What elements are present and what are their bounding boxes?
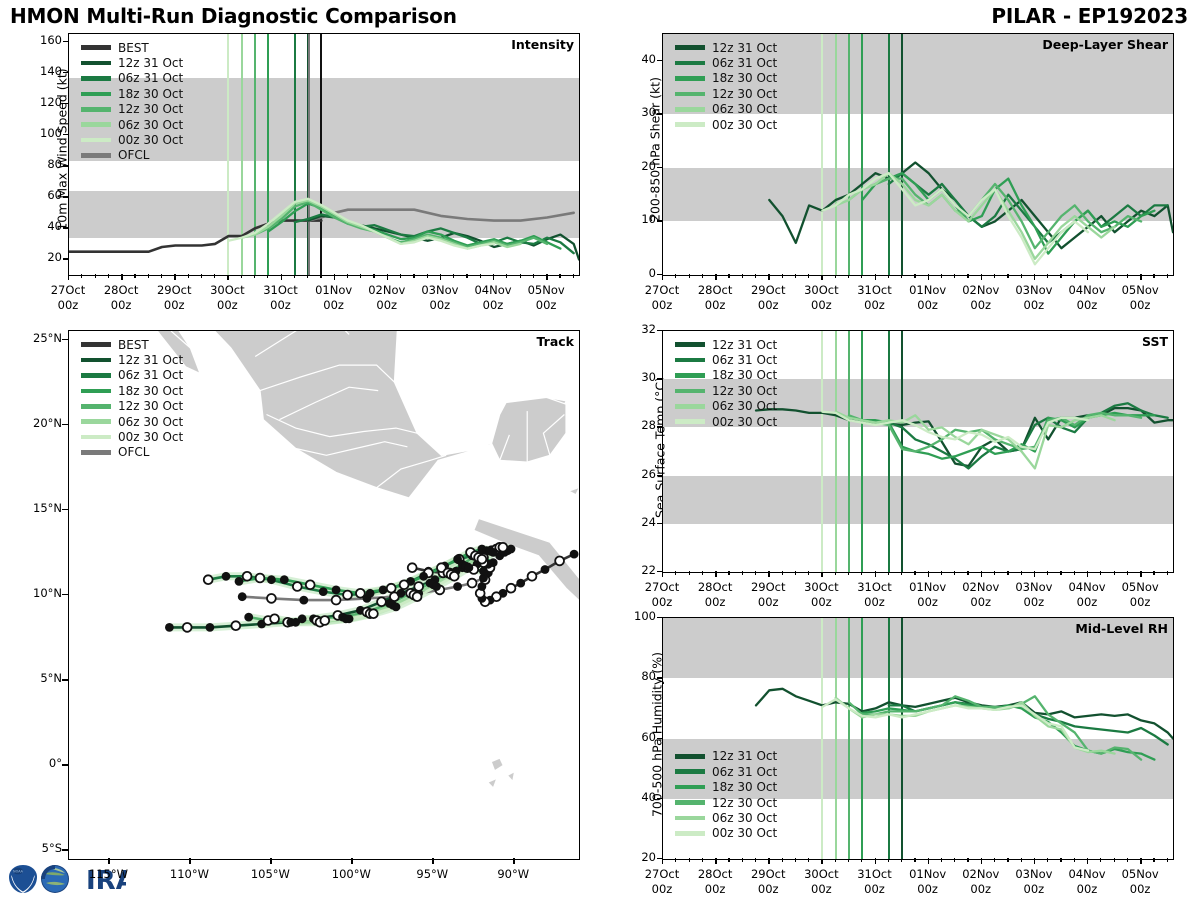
y-axis-tick bbox=[63, 103, 68, 104]
x-axis-tick-label-hour: 00z bbox=[304, 298, 364, 312]
track-marker-filled bbox=[379, 586, 388, 595]
x-axis-tick-label-day: 31Oct bbox=[845, 867, 905, 881]
panel-track: Track BEST12z 31 Oct06z 31 Oct18z 30 Oct… bbox=[68, 330, 580, 860]
x-axis-tick-label: 100°W bbox=[319, 867, 383, 881]
x-axis-tick-label-day: 28Oct bbox=[685, 580, 745, 594]
legend-label: 06z 31 Oct bbox=[712, 765, 777, 779]
panel-rh: Mid-Level RH 12z 31 Oct06z 31 Oct18z 30 … bbox=[662, 617, 1174, 860]
track-marker-filled bbox=[479, 567, 488, 576]
legend-label: 12z 30 Oct bbox=[118, 102, 183, 116]
legend-swatch-06z-31-oct bbox=[675, 769, 705, 774]
legend-label: 00z 30 Oct bbox=[712, 826, 777, 840]
x-axis-tick-label-hour: 00z bbox=[410, 298, 470, 312]
legend-item[interactable]: 00z 30 Oct bbox=[675, 414, 777, 429]
legend-label: 12z 30 Oct bbox=[118, 399, 183, 413]
track-marker-filled bbox=[235, 577, 244, 586]
y-axis-tick bbox=[63, 165, 68, 166]
legend-swatch-06z-31-oct bbox=[675, 358, 705, 363]
legend-swatch-12z-31-oct bbox=[81, 358, 111, 363]
y-axis-tick-label: 100 bbox=[618, 609, 656, 623]
track-marker-open bbox=[507, 584, 516, 593]
legend-swatch-06z-31-oct bbox=[81, 76, 111, 81]
legend-item[interactable]: 12z 30 Oct bbox=[675, 86, 777, 101]
legend-item[interactable]: 06z 31 Oct bbox=[81, 368, 183, 383]
x-axis-tick-label-day: 05Nov bbox=[516, 283, 576, 297]
x-axis-tick-label-day: 01Nov bbox=[898, 580, 958, 594]
x-axis-tick bbox=[108, 858, 109, 864]
x-axis-tick-label-day: 04Nov bbox=[463, 283, 523, 297]
y-axis-tick bbox=[657, 60, 662, 61]
legend-label: 06z 30 Oct bbox=[118, 415, 183, 429]
panel-label-shear: Deep-Layer Shear bbox=[1042, 37, 1168, 52]
landmass bbox=[488, 779, 496, 788]
x-axis-tick bbox=[270, 858, 271, 864]
track-marker-filled bbox=[541, 565, 550, 574]
y-axis-tick bbox=[657, 475, 662, 476]
legend-swatch-12z-30-oct bbox=[675, 92, 705, 97]
legend-label: 06z 30 Oct bbox=[118, 118, 183, 132]
x-axis-tick-label-day: 29Oct bbox=[144, 283, 204, 297]
legend-item[interactable]: 06z 30 Oct bbox=[675, 399, 777, 414]
x-axis-tick-label-day: 04Nov bbox=[1057, 580, 1117, 594]
y-axis-tick bbox=[62, 594, 68, 595]
legend-swatch-ofcl bbox=[81, 450, 111, 455]
track-marker-open bbox=[356, 589, 365, 598]
series-line bbox=[242, 200, 521, 248]
y-axis-tick-label: 25°N bbox=[16, 331, 62, 345]
x-axis-tick-label-day: 29Oct bbox=[738, 580, 798, 594]
y-axis-tick-label: 0 bbox=[618, 266, 656, 280]
y-axis-tick-label: 40 bbox=[618, 790, 656, 804]
x-axis-tick-label-hour: 00z bbox=[632, 298, 692, 312]
x-axis-tick-label-hour: 00z bbox=[845, 882, 905, 896]
panel-label-sst: SST bbox=[1142, 334, 1168, 349]
x-axis-tick-label-hour: 00z bbox=[738, 882, 798, 896]
track-marker-open bbox=[270, 614, 279, 623]
y-axis-tick bbox=[657, 167, 662, 168]
legend-swatch-12z-30-oct bbox=[81, 107, 111, 112]
x-axis-tick-label-hour: 00z bbox=[1004, 595, 1064, 609]
legend-item[interactable]: 18z 30 Oct bbox=[81, 86, 183, 101]
x-axis-tick-label-day: 30Oct bbox=[197, 283, 257, 297]
track-marker-filled bbox=[465, 563, 474, 572]
track-marker-filled bbox=[419, 572, 428, 581]
legend-item[interactable]: 06z 31 Oct bbox=[675, 352, 777, 367]
track-marker-filled bbox=[366, 589, 375, 598]
x-axis-tick-label-day: 29Oct bbox=[738, 867, 798, 881]
series-line bbox=[69, 221, 321, 252]
legend-item[interactable]: 12z 31 Oct bbox=[675, 749, 777, 764]
x-axis-tick-label-hour: 00z bbox=[738, 595, 798, 609]
y-axis-tick bbox=[62, 339, 68, 340]
x-axis-tick-label-day: 02Nov bbox=[951, 580, 1011, 594]
track-marker-open bbox=[231, 621, 240, 630]
legend-item[interactable]: 12z 31 Oct bbox=[675, 337, 777, 352]
legend-label: 06z 30 Oct bbox=[712, 102, 777, 116]
track-marker-filled bbox=[299, 596, 308, 605]
legend-item[interactable]: 12z 30 Oct bbox=[81, 102, 183, 117]
x-axis-tick-label-hour: 00z bbox=[898, 882, 958, 896]
y-axis-tick-label: 15°N bbox=[16, 501, 62, 515]
legend-item[interactable]: 06z 30 Oct bbox=[675, 102, 777, 117]
track-marker-filled bbox=[206, 623, 215, 632]
y-axis-tick bbox=[657, 220, 662, 221]
legend-swatch-18z-30-oct bbox=[81, 92, 111, 97]
legend-swatch-best bbox=[81, 45, 111, 50]
legend-item[interactable]: 06z 31 Oct bbox=[81, 71, 183, 86]
x-axis-tick-label: 105°W bbox=[238, 867, 302, 881]
y-axis-tick bbox=[657, 113, 662, 114]
y-axis-tick-label: 10°N bbox=[16, 586, 62, 600]
political-border bbox=[438, 460, 493, 470]
x-axis-tick-label-hour: 00z bbox=[357, 298, 417, 312]
x-axis-tick-label-day: 01Nov bbox=[898, 867, 958, 881]
x-axis-tick-label-day: 28Oct bbox=[91, 283, 151, 297]
y-axis-tick-label: 22 bbox=[618, 563, 656, 577]
x-axis-tick-label-hour: 00z bbox=[1110, 595, 1170, 609]
y-axis-tick bbox=[657, 798, 662, 799]
x-axis-tick-label-hour: 00z bbox=[463, 298, 523, 312]
legend-label: 12z 31 Oct bbox=[118, 56, 183, 70]
y-axis-tick bbox=[62, 509, 68, 510]
legend-item[interactable]: 00z 30 Oct bbox=[81, 132, 183, 147]
legend-label: 06z 31 Oct bbox=[118, 71, 183, 85]
legend-swatch-best bbox=[81, 342, 111, 347]
legend-item[interactable]: 12z 30 Oct bbox=[675, 795, 777, 810]
track-marker-open bbox=[414, 582, 423, 591]
legend-item[interactable]: 06z 30 Oct bbox=[81, 117, 183, 132]
x-axis-tick-label-day: 27Oct bbox=[632, 867, 692, 881]
track-marker-filled bbox=[222, 572, 231, 581]
legend-label: BEST bbox=[118, 41, 149, 55]
x-axis-tick-label-hour: 00z bbox=[1110, 882, 1170, 896]
legend-item[interactable]: 18z 30 Oct bbox=[675, 71, 777, 86]
x-axis-tick-label-day: 27Oct bbox=[38, 283, 98, 297]
track-marker-filled bbox=[489, 548, 498, 557]
legend-swatch-06z-30-oct bbox=[675, 404, 705, 409]
legend-swatch-18z-30-oct bbox=[675, 785, 705, 790]
y-axis-tick-label: 5°S bbox=[16, 841, 62, 855]
track-marker-filled bbox=[570, 550, 579, 559]
x-axis-tick-label-hour: 00z bbox=[898, 298, 958, 312]
legend-swatch-18z-30-oct bbox=[675, 373, 705, 378]
x-axis-tick-label-hour: 00z bbox=[845, 298, 905, 312]
legend-label: 18z 30 Oct bbox=[712, 368, 777, 382]
legend-swatch-06z-30-oct bbox=[675, 107, 705, 112]
x-axis-tick-label-day: 03Nov bbox=[410, 283, 470, 297]
legend-swatch-12z-30-oct bbox=[675, 800, 705, 805]
track-marker-filled bbox=[489, 558, 498, 567]
track-marker-filled bbox=[392, 603, 401, 612]
legend-item[interactable]: 18z 30 Oct bbox=[675, 779, 777, 794]
y-axis-tick-label: 80 bbox=[24, 157, 62, 171]
legend-label: 12z 30 Oct bbox=[712, 384, 777, 398]
y-axis-tick-label: 40 bbox=[24, 219, 62, 233]
legend-label: 12z 31 Oct bbox=[118, 353, 183, 367]
legend-item[interactable]: 00z 30 Oct bbox=[675, 826, 777, 841]
legend-label: BEST bbox=[118, 338, 149, 352]
y-axis-tick-label: 32 bbox=[618, 322, 656, 336]
series-line bbox=[836, 173, 1115, 259]
x-axis-tick-label-day: 02Nov bbox=[951, 867, 1011, 881]
track-marker-open bbox=[369, 609, 378, 618]
track-marker-open bbox=[450, 572, 459, 581]
legend-item[interactable]: 06z 31 Oct bbox=[675, 764, 777, 779]
y-axis-tick-label: 160 bbox=[24, 33, 62, 47]
x-axis-tick bbox=[432, 858, 433, 864]
legend-item[interactable]: 12z 31 Oct bbox=[81, 55, 183, 70]
series-line bbox=[308, 210, 574, 221]
noaa-logo: NOAA bbox=[6, 862, 40, 896]
x-axis-tick-label-day: 05Nov bbox=[1110, 580, 1170, 594]
track-marker-open bbox=[528, 572, 537, 581]
x-axis-tick-label: 95°W bbox=[400, 867, 464, 881]
x-axis-tick-label-day: 04Nov bbox=[1057, 867, 1117, 881]
legend-label: 00z 30 Oct bbox=[712, 415, 777, 429]
y-axis-tick bbox=[63, 134, 68, 135]
legend-item[interactable]: 12z 30 Oct bbox=[675, 383, 777, 398]
x-axis-tick-label-hour: 00z bbox=[197, 298, 257, 312]
track-marker-open bbox=[332, 596, 341, 605]
legend-item[interactable]: 06z 30 Oct bbox=[675, 810, 777, 825]
track-marker-filled bbox=[267, 575, 276, 584]
x-axis-tick-label-day: 03Nov bbox=[1004, 283, 1064, 297]
y-axis-tick bbox=[63, 196, 68, 197]
track-marker-filled bbox=[397, 589, 406, 598]
legend-swatch-06z-31-oct bbox=[675, 61, 705, 66]
svg-text:NOAA: NOAA bbox=[13, 870, 24, 874]
x-axis-tick-label: 90°W bbox=[481, 867, 545, 881]
legend: 12z 31 Oct06z 31 Oct18z 30 Oct12z 30 Oct… bbox=[675, 749, 777, 841]
track-marker-open bbox=[413, 592, 422, 601]
legend-swatch-06z-30-oct bbox=[675, 816, 705, 821]
x-axis-tick-label-hour: 00z bbox=[1057, 595, 1117, 609]
legend-label: 18z 30 Oct bbox=[118, 87, 183, 101]
legend-item[interactable]: 06z 30 Oct bbox=[81, 414, 183, 429]
x-axis-tick-label: 110°W bbox=[157, 867, 221, 881]
track-marker-open bbox=[204, 575, 213, 584]
track-marker-filled bbox=[244, 613, 253, 622]
legend-item[interactable]: 18z 30 Oct bbox=[81, 383, 183, 398]
series-line bbox=[822, 173, 1088, 264]
x-axis-tick-label-day: 27Oct bbox=[632, 283, 692, 297]
series-line bbox=[756, 408, 1173, 466]
legend-swatch-00z-30-oct bbox=[81, 138, 111, 143]
legend-swatch-18z-30-oct bbox=[81, 389, 111, 394]
track-marker-open bbox=[468, 579, 477, 588]
y-axis-tick-label: 100 bbox=[24, 126, 62, 140]
x-axis-tick-label-day: 28Oct bbox=[685, 867, 745, 881]
legend-item[interactable]: 12z 30 Oct bbox=[81, 399, 183, 414]
x-axis-tick-label-day: 01Nov bbox=[304, 283, 364, 297]
x-axis-tick-label-day: 30Oct bbox=[791, 867, 851, 881]
x-axis-tick-label-hour: 00z bbox=[685, 595, 745, 609]
legend-item[interactable]: 18z 30 Oct bbox=[675, 368, 777, 383]
legend-swatch-00z-30-oct bbox=[675, 831, 705, 836]
legend: 12z 31 Oct06z 31 Oct18z 30 Oct12z 30 Oct… bbox=[675, 337, 777, 429]
legend-label: 12z 31 Oct bbox=[712, 41, 777, 55]
track-marker-open bbox=[306, 580, 315, 589]
x-axis-tick-label-hour: 00z bbox=[951, 882, 1011, 896]
x-axis-tick-label-hour: 00z bbox=[1110, 298, 1170, 312]
y-axis-tick-label: 30 bbox=[618, 370, 656, 384]
x-axis-tick-label-hour: 00z bbox=[791, 882, 851, 896]
political-border bbox=[550, 525, 579, 542]
political-border bbox=[514, 518, 543, 530]
panel-label-intensity: Intensity bbox=[511, 37, 574, 52]
figure-root: HMON Multi-Run Diagnostic Comparison PIL… bbox=[0, 0, 1200, 900]
track-marker-open bbox=[320, 616, 329, 625]
x-axis-tick-label-hour: 00z bbox=[791, 298, 851, 312]
legend-swatch-06z-30-oct bbox=[81, 122, 111, 127]
x-axis-tick-label-hour: 00z bbox=[951, 595, 1011, 609]
legend-item[interactable]: 06z 31 Oct bbox=[675, 55, 777, 70]
x-axis-tick-label-hour: 00z bbox=[516, 298, 576, 312]
y-axis-tick bbox=[657, 738, 662, 739]
y-axis-tick-label: 80 bbox=[618, 669, 656, 683]
x-axis-tick-label-hour: 00z bbox=[845, 595, 905, 609]
x-axis-tick-label-hour: 00z bbox=[632, 882, 692, 896]
track-marker-open bbox=[256, 574, 265, 583]
panel-label-rh: Mid-Level RH bbox=[1075, 621, 1168, 636]
y-axis-tick-label: 24 bbox=[618, 515, 656, 529]
track-marker-open bbox=[499, 543, 508, 552]
x-axis-tick-label-day: 30Oct bbox=[791, 580, 851, 594]
legend-swatch-12z-31-oct bbox=[675, 342, 705, 347]
y-axis-tick bbox=[62, 849, 68, 850]
series-line bbox=[862, 173, 1154, 253]
x-axis-tick-label-day: 02Nov bbox=[357, 283, 417, 297]
x-axis-tick-label: 115°W bbox=[76, 867, 140, 881]
x-axis-tick-label-day: 27Oct bbox=[632, 580, 692, 594]
x-axis-tick-label-hour: 00z bbox=[738, 298, 798, 312]
legend-label: 06z 31 Oct bbox=[712, 353, 777, 367]
y-axis-tick-label: 0° bbox=[16, 756, 62, 770]
y-axis-tick bbox=[657, 523, 662, 524]
legend-label: 00z 30 Oct bbox=[712, 118, 777, 132]
x-axis-tick-label-hour: 00z bbox=[91, 298, 151, 312]
legend-label: 12z 30 Oct bbox=[712, 796, 777, 810]
track-marker-filled bbox=[298, 614, 307, 623]
x-axis-tick-label-hour: 00z bbox=[791, 595, 851, 609]
legend-label: 18z 30 Oct bbox=[118, 384, 183, 398]
x-axis-tick-label-day: 03Nov bbox=[1004, 867, 1064, 881]
legend-label: OFCL bbox=[118, 445, 149, 459]
legend-swatch-06z-31-oct bbox=[81, 373, 111, 378]
x-axis-tick bbox=[351, 858, 352, 864]
legend-item[interactable]: OFCL bbox=[81, 445, 183, 460]
legend-label: 06z 30 Oct bbox=[712, 399, 777, 413]
figure-title-left: HMON Multi-Run Diagnostic Comparison bbox=[10, 4, 457, 28]
panel-shear: Deep-Layer Shear 12z 31 Oct06z 31 Oct18z… bbox=[662, 33, 1174, 276]
x-axis-tick-label-day: 31Oct bbox=[845, 283, 905, 297]
legend-label: 12z 31 Oct bbox=[712, 749, 777, 763]
y-axis-tick bbox=[63, 227, 68, 228]
y-axis-tick-label: 26 bbox=[618, 467, 656, 481]
y-axis-tick bbox=[62, 764, 68, 765]
legend-item[interactable]: BEST bbox=[81, 40, 183, 55]
track-marker-open bbox=[387, 584, 396, 593]
legend-item[interactable]: BEST bbox=[81, 337, 183, 352]
x-axis-tick-label-day: 05Nov bbox=[1110, 867, 1170, 881]
legend-label: 06z 31 Oct bbox=[118, 368, 183, 382]
y-axis-tick-label: 20 bbox=[24, 250, 62, 264]
legend-label: 06z 31 Oct bbox=[712, 56, 777, 70]
x-axis-tick bbox=[189, 858, 190, 864]
track-marker-filled bbox=[516, 579, 525, 588]
legend-label: 06z 30 Oct bbox=[712, 811, 777, 825]
legend-swatch-12z-31-oct bbox=[81, 61, 111, 66]
x-axis-tick-label-day: 31Oct bbox=[845, 580, 905, 594]
track-marker-open bbox=[343, 591, 352, 600]
x-axis-tick-label-day: 05Nov bbox=[1110, 283, 1170, 297]
legend-swatch-06z-30-oct bbox=[81, 419, 111, 424]
legend: 12z 31 Oct06z 31 Oct18z 30 Oct12z 30 Oct… bbox=[675, 40, 777, 132]
x-axis-tick bbox=[513, 858, 514, 864]
x-axis-tick-label-hour: 00z bbox=[685, 882, 745, 896]
y-axis-tick-label: 5°N bbox=[16, 671, 62, 685]
track-marker-open bbox=[293, 582, 302, 591]
y-axis-tick-label: 20°N bbox=[16, 416, 62, 430]
x-axis-tick-label-hour: 00z bbox=[898, 595, 958, 609]
legend-item[interactable]: OFCL bbox=[81, 148, 183, 163]
track-marker-filled bbox=[453, 582, 462, 591]
panel-label-track: Track bbox=[537, 334, 574, 349]
landmass bbox=[508, 772, 514, 781]
legend-label: 18z 30 Oct bbox=[712, 71, 777, 85]
legend-item[interactable]: 12z 31 Oct bbox=[81, 352, 183, 367]
y-axis-tick bbox=[657, 378, 662, 379]
x-axis-tick-label-hour: 00z bbox=[1057, 882, 1117, 896]
x-axis-tick-label-day: 03Nov bbox=[1004, 580, 1064, 594]
legend: BEST12z 31 Oct06z 31 Oct18z 30 Oct12z 30… bbox=[81, 337, 183, 460]
legend-swatch-00z-30-oct bbox=[675, 122, 705, 127]
y-axis-tick bbox=[657, 617, 662, 618]
track-marker-open bbox=[267, 594, 276, 603]
legend-item[interactable]: 00z 30 Oct bbox=[81, 429, 183, 444]
x-axis-tick-label-hour: 00z bbox=[1057, 298, 1117, 312]
track-marker-open bbox=[377, 597, 386, 606]
landmass bbox=[492, 759, 503, 771]
legend-label: 12z 30 Oct bbox=[712, 87, 777, 101]
legend-item[interactable]: 00z 30 Oct bbox=[675, 117, 777, 132]
track-marker-open bbox=[478, 555, 487, 564]
y-axis-tick bbox=[63, 72, 68, 73]
y-axis-tick bbox=[63, 258, 68, 259]
legend-label: 00z 30 Oct bbox=[118, 133, 183, 147]
legend-swatch-12z-31-oct bbox=[675, 754, 705, 759]
y-axis-tick bbox=[62, 424, 68, 425]
y-axis-tick-label: 28 bbox=[618, 418, 656, 432]
x-axis-tick-label-day: 04Nov bbox=[1057, 283, 1117, 297]
y-axis-tick-label: 40 bbox=[618, 52, 656, 66]
legend-label: 18z 30 Oct bbox=[712, 780, 777, 794]
x-axis-tick-label-hour: 00z bbox=[1004, 882, 1064, 896]
y-axis-tick bbox=[657, 677, 662, 678]
track-marker-filled bbox=[332, 586, 341, 595]
x-axis-tick-label-hour: 00z bbox=[1004, 298, 1064, 312]
figure-title-right: PILAR - EP192023 bbox=[991, 4, 1188, 28]
x-axis-tick-label-day: 30Oct bbox=[791, 283, 851, 297]
track-marker-open bbox=[555, 557, 564, 566]
legend-item[interactable]: 12z 31 Oct bbox=[675, 40, 777, 55]
x-axis-tick-label-hour: 00z bbox=[685, 298, 745, 312]
track-marker-filled bbox=[432, 582, 441, 591]
legend-swatch-00z-30-oct bbox=[81, 435, 111, 440]
x-axis-tick-label-hour: 00z bbox=[951, 298, 1011, 312]
track-marker-open bbox=[400, 580, 409, 589]
panel-intensity: Intensity BEST12z 31 Oct06z 31 Oct18z 30… bbox=[68, 33, 580, 276]
